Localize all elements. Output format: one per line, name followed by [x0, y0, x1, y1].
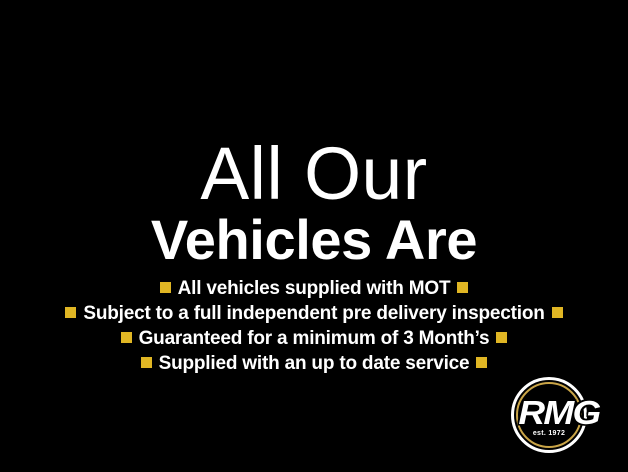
list-item: Guaranteed for a minimum of 3 Month’s	[0, 326, 628, 351]
promo-banner: All Our Vehicles Are All vehicles suppli…	[0, 0, 628, 472]
feature-text: Guaranteed for a minimum of 3 Month’s	[139, 328, 490, 349]
bullet-square-icon	[141, 357, 152, 368]
rmg-logo: est. 1972 RMG	[498, 372, 620, 466]
headline-line-2: Vehicles Are	[0, 210, 628, 270]
bullet-square-icon	[457, 282, 468, 293]
bullet-square-icon	[65, 307, 76, 318]
bullet-square-icon	[476, 357, 487, 368]
feature-text: All vehicles supplied with MOT	[178, 278, 451, 299]
logo-wordmark: RMG	[491, 396, 628, 429]
feature-list: All vehicles supplied with MOT Subject t…	[0, 276, 628, 376]
bullet-square-icon	[121, 332, 132, 343]
feature-text: Subject to a full independent pre delive…	[83, 303, 544, 324]
headline-line-1: All Our	[3, 136, 625, 212]
list-item: All vehicles supplied with MOT	[0, 276, 628, 301]
bullet-square-icon	[160, 282, 171, 293]
bullet-square-icon	[496, 332, 507, 343]
headline: All Our Vehicles Are	[0, 136, 628, 270]
bullet-square-icon	[552, 307, 563, 318]
list-item: Subject to a full independent pre delive…	[0, 301, 628, 326]
feature-text: Supplied with an up to date service	[159, 353, 470, 374]
